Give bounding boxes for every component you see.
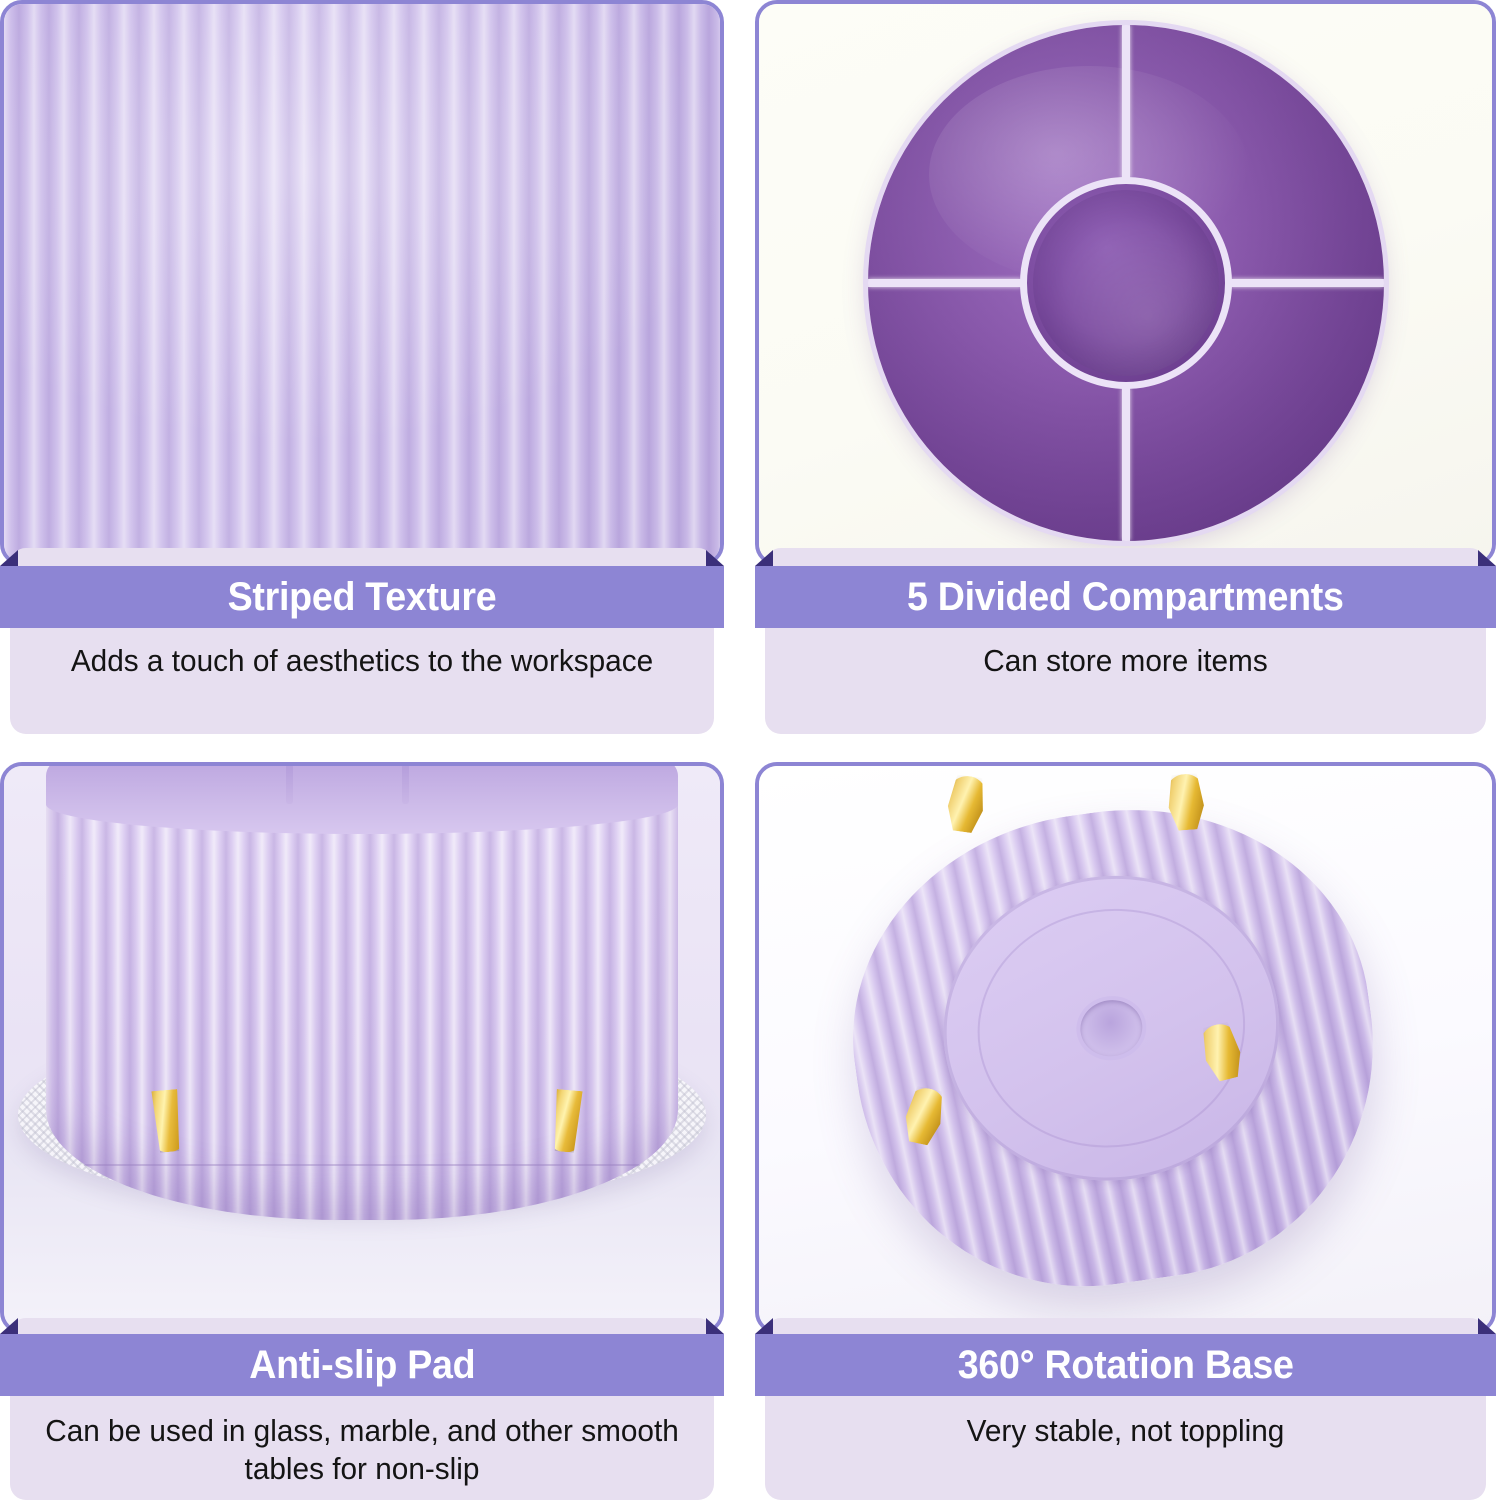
ribbon-fold-left-icon bbox=[755, 550, 773, 566]
feature-card-divided-compartments: 5 Divided Compartments Can store more it… bbox=[755, 0, 1496, 734]
feature-title: 5 Divided Compartments bbox=[907, 577, 1344, 617]
gold-foot-icon bbox=[941, 773, 990, 834]
ribbon-fold-right-icon bbox=[1478, 550, 1496, 566]
photo-backdrop bbox=[4, 766, 720, 1330]
feature-title: Anti-slip Pad bbox=[249, 1345, 475, 1385]
rotation-plate bbox=[924, 854, 1299, 1202]
compartment-divider-bottom bbox=[1122, 387, 1130, 541]
ribbon-fold-left-icon bbox=[755, 1318, 773, 1334]
feature-caption: Can store more items bbox=[787, 642, 1464, 680]
feature-title: Striped Texture bbox=[228, 577, 497, 617]
photo-backdrop bbox=[759, 766, 1492, 1330]
feature-caption: Very stable, not toppling bbox=[787, 1412, 1464, 1450]
compartment-divider-top bbox=[1122, 25, 1130, 179]
feature-caption: Can be used in glass, marble, and other … bbox=[32, 1412, 692, 1488]
product-photo-compartments bbox=[755, 0, 1496, 566]
ribbon-fold-left-icon bbox=[0, 1318, 18, 1334]
product-photo-anti-slip bbox=[0, 762, 724, 1334]
feature-card-rotation-base: 360° Rotation Base Very stable, not topp… bbox=[755, 762, 1496, 1500]
center-compartment bbox=[1020, 177, 1232, 389]
product-photo-striped-texture bbox=[0, 0, 724, 566]
organizer-rim bbox=[46, 762, 678, 834]
compartment-divider-right bbox=[1230, 279, 1384, 287]
ribbon-fold-right-icon bbox=[1478, 1318, 1496, 1334]
ribbon-fold-left-icon bbox=[0, 550, 18, 566]
organizer-base-seam bbox=[84, 1164, 640, 1166]
organizer-top-view bbox=[868, 25, 1384, 541]
striped-texture-sheen bbox=[4, 4, 720, 562]
feature-title-ribbon: Striped Texture bbox=[0, 566, 724, 628]
organizer-underside bbox=[825, 778, 1403, 1316]
feature-card-anti-slip-pad: Anti-slip Pad Can be used in glass, marb… bbox=[0, 762, 724, 1500]
organizer-side-view bbox=[46, 762, 678, 1220]
feature-title: 360° Rotation Base bbox=[958, 1345, 1294, 1385]
feature-grid: Striped Texture Adds a touch of aestheti… bbox=[0, 0, 1496, 1500]
feature-title-ribbon: Anti-slip Pad bbox=[0, 1334, 724, 1396]
ribbon-fold-right-icon bbox=[706, 1318, 724, 1334]
ribbon-fold-right-icon bbox=[706, 550, 724, 566]
feature-card-striped-texture: Striped Texture Adds a touch of aestheti… bbox=[0, 0, 724, 734]
compartment-divider-left bbox=[868, 279, 1022, 287]
photo-backdrop bbox=[759, 4, 1492, 562]
feature-caption: Adds a touch of aesthetics to the worksp… bbox=[32, 642, 692, 680]
feature-title-ribbon: 360° Rotation Base bbox=[755, 1334, 1496, 1396]
product-photo-rotation-base bbox=[755, 762, 1496, 1334]
feature-title-ribbon: 5 Divided Compartments bbox=[755, 566, 1496, 628]
